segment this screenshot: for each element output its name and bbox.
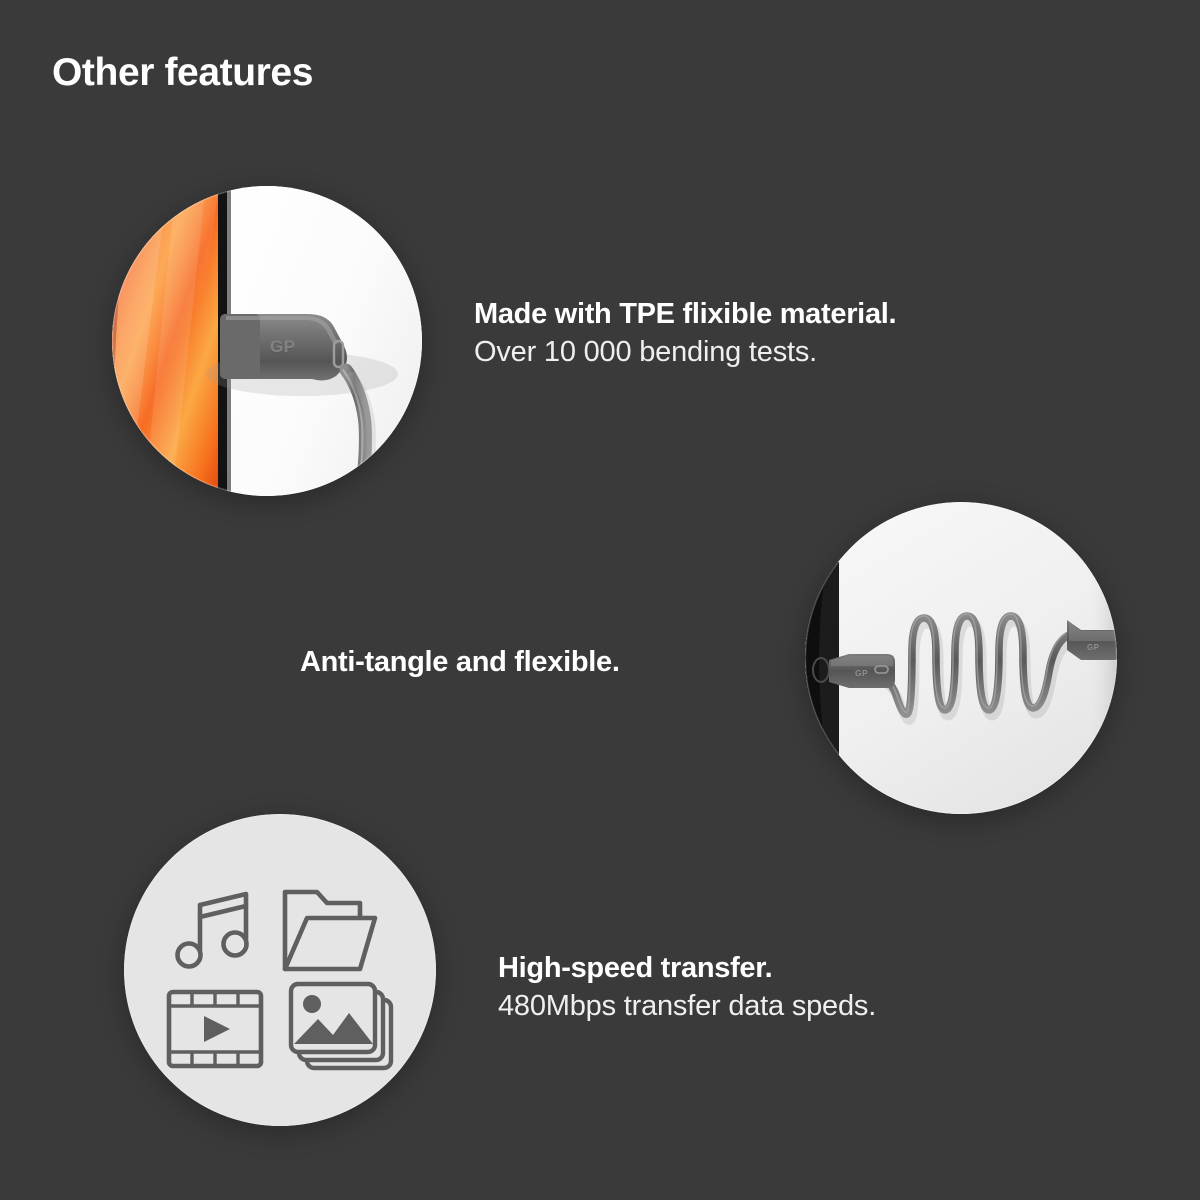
zigzag-cable-photo: GP GP <box>805 502 1117 814</box>
media-icons-graphic <box>124 814 436 1126</box>
feature-subtext: Over 10 000 bending tests. <box>474 333 896 371</box>
feature-headline: Made with TPE flixible material. <box>474 296 896 333</box>
feature-image-tpe-material: GP GP <box>112 186 422 496</box>
svg-text:GP: GP <box>855 668 868 678</box>
svg-text:GP: GP <box>270 337 296 356</box>
feature-image-anti-tangle: GP GP <box>805 502 1117 814</box>
phone-with-usbc-cable-photo: GP GP <box>112 186 422 496</box>
feature-text-anti-tangle: Anti-tangle and flexible. <box>300 644 620 681</box>
usbc-connector: GP <box>829 654 895 688</box>
svg-text:GP: GP <box>1087 643 1100 652</box>
page-title: Other features <box>52 52 313 95</box>
feature-headline: High-speed transfer. <box>498 950 876 987</box>
photo-stack-icon <box>291 984 391 1068</box>
feature-text-high-speed-transfer: High-speed transfer. 480Mbps transfer da… <box>498 950 876 1025</box>
feature-image-high-speed-transfer <box>124 814 436 1126</box>
feature-subtext: 480Mbps transfer data speds. <box>498 987 876 1025</box>
feature-headline: Anti-tangle and flexible. <box>300 644 620 681</box>
feature-text-tpe-material: Made with TPE flixible material. Over 10… <box>474 296 896 371</box>
infographic-page: Other features <box>0 0 1200 1200</box>
